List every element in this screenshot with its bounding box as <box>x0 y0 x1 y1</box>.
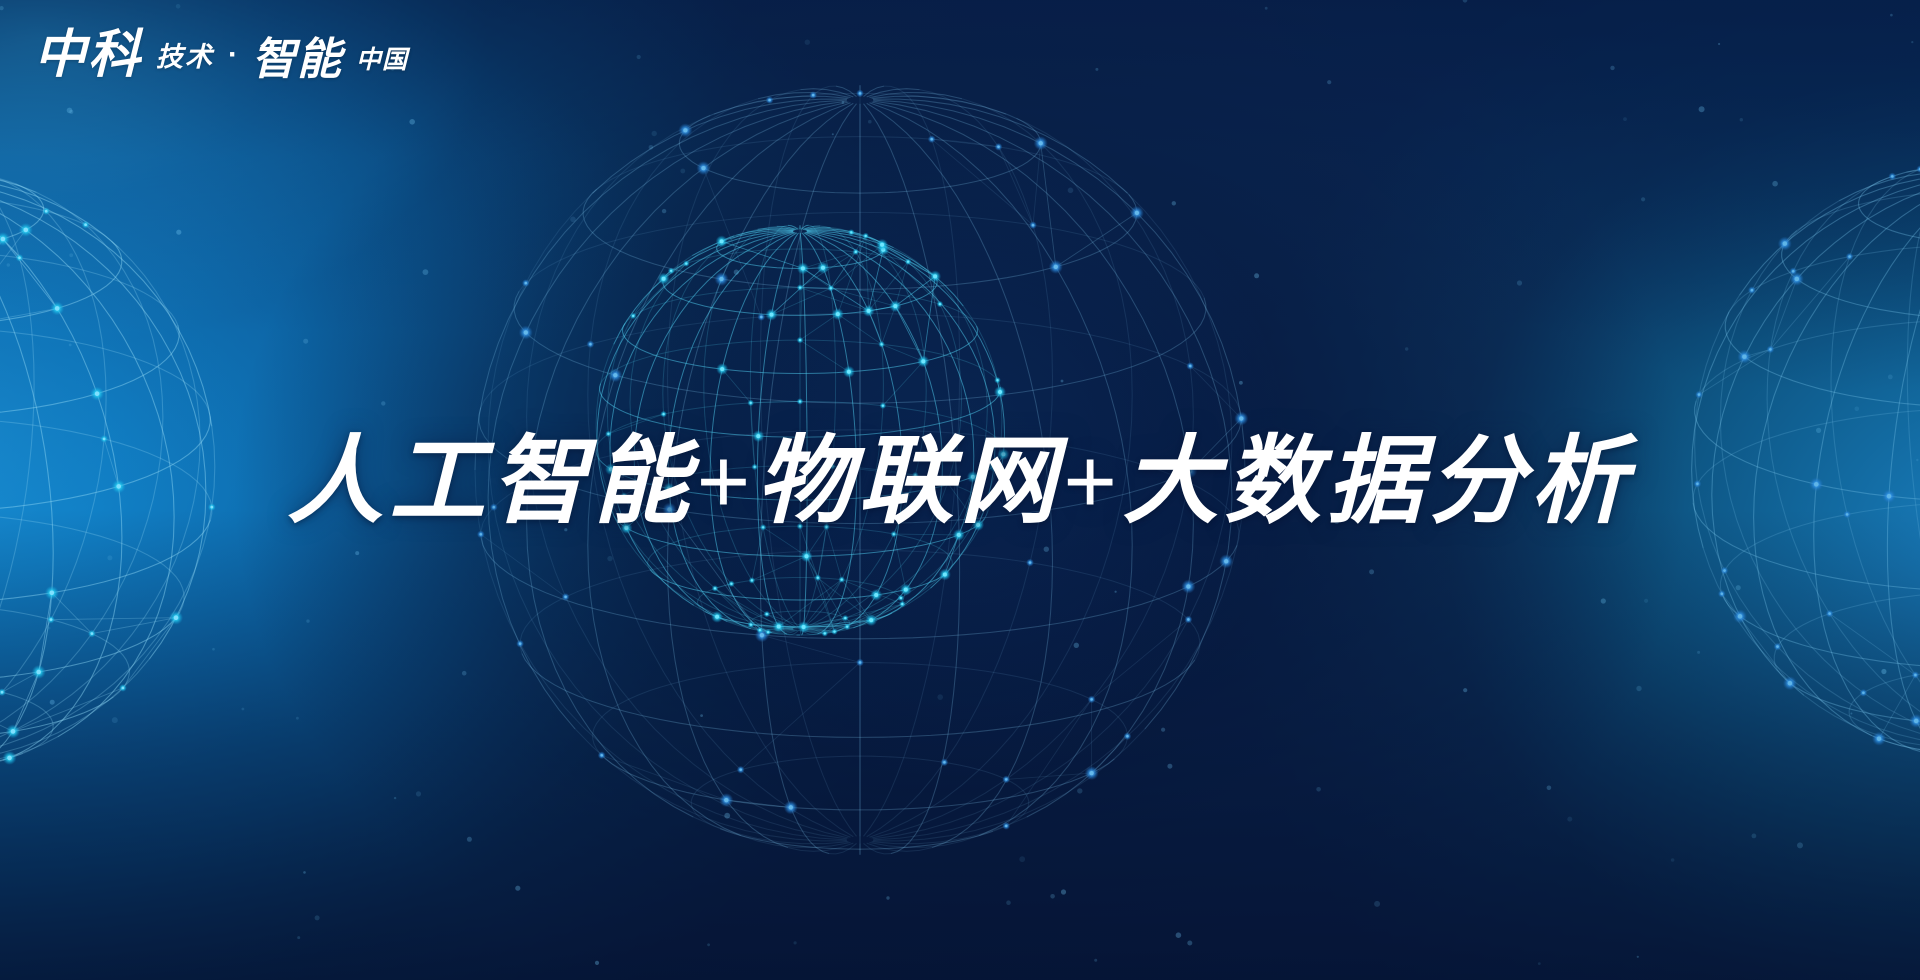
logo-tagline-part2: 智能 <box>252 38 342 82</box>
logo: 中科 技术 · 智能 中国 <box>34 30 408 82</box>
page-title: 人工智能+物联网+大数据分析 <box>0 430 1920 534</box>
logo-tagline-part1: 技术 <box>156 44 214 71</box>
banner-root: 中科 技术 · 智能 中国 人工智能+物联网+大数据分析 <box>0 0 1920 980</box>
logo-separator-dot: · <box>228 40 238 70</box>
logo-tagline-part3: 中国 <box>356 48 408 73</box>
logo-brand-text: 中科 <box>34 30 142 82</box>
